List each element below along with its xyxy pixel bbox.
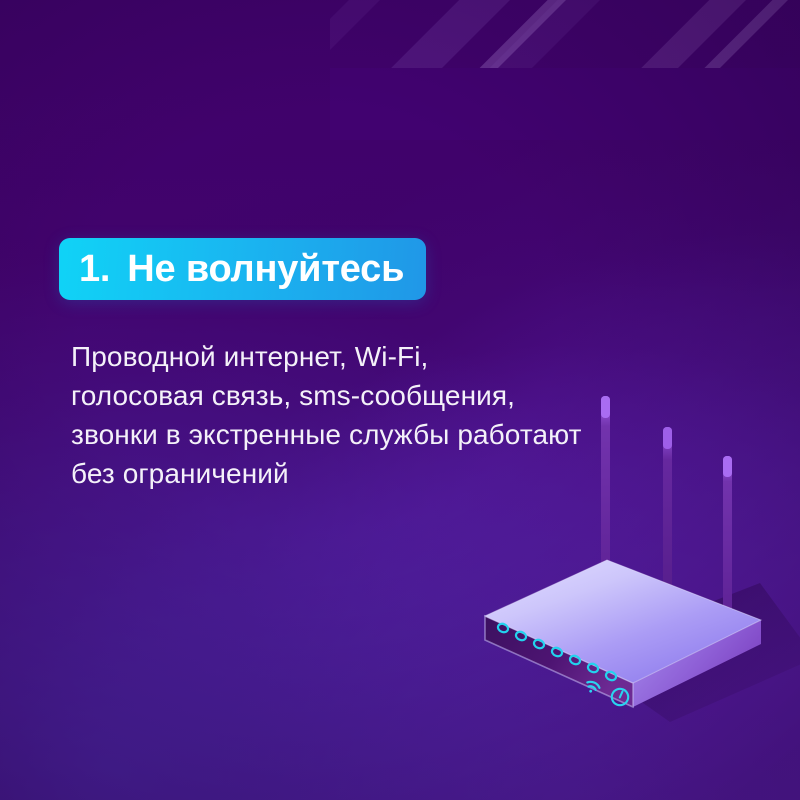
body-line: Проводной интернет, Wi-Fi,: [71, 337, 711, 376]
body-copy: Проводной интернет, Wi-Fi, голосовая свя…: [71, 337, 711, 493]
body-line: без ограничений: [71, 454, 711, 493]
step-heading-badge: 1. Не волнуйтесь: [59, 238, 426, 300]
body-line: звонки в экстренные службы работают: [71, 415, 711, 454]
slide-canvas: 1. Не волнуйтесь Проводной интернет, Wi-…: [0, 0, 800, 800]
step-title: Не волнуйтесь: [127, 250, 404, 288]
step-number: 1.: [79, 250, 110, 288]
body-line: голосовая связь, sms-сообщения,: [71, 376, 711, 415]
